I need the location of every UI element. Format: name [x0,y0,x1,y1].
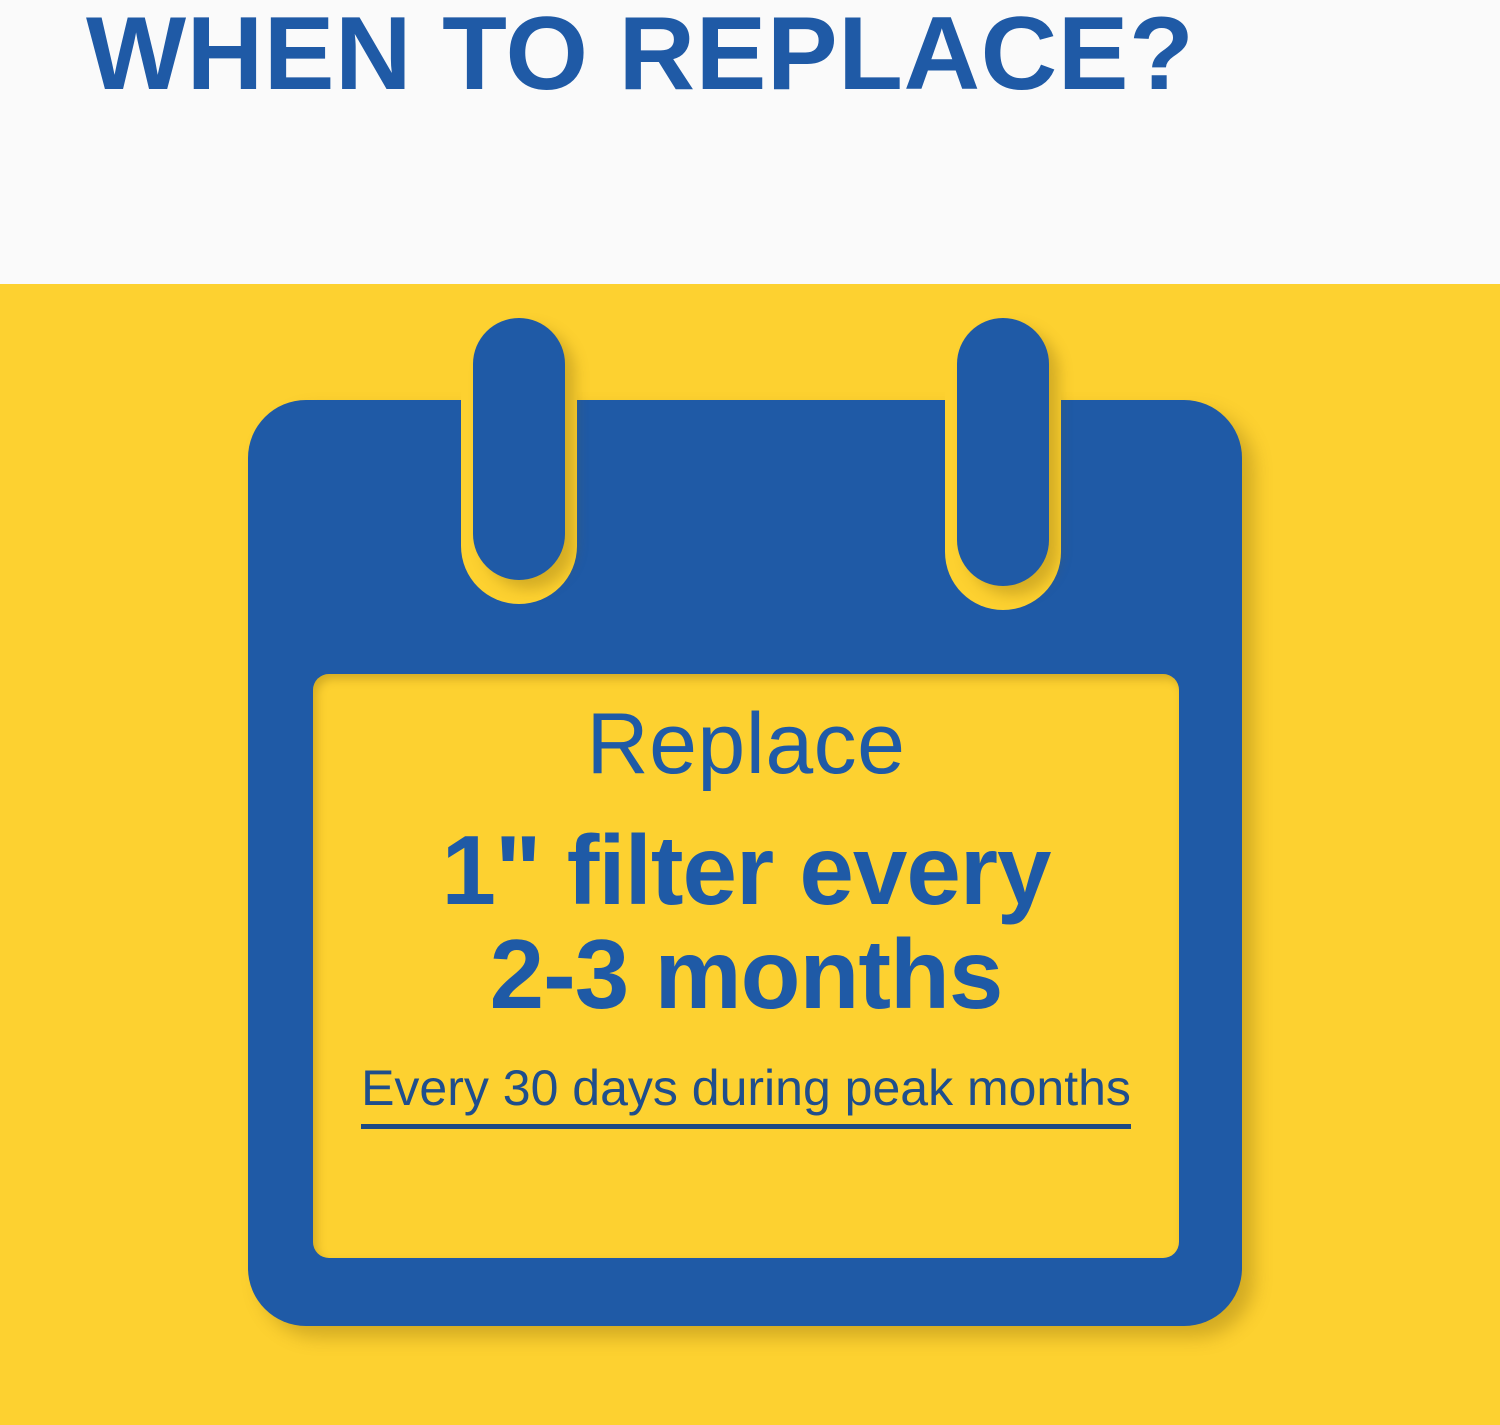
calendar-page: Replace 1" filter every 2-3 months Every… [313,674,1179,1258]
replace-label: Replace [586,696,905,792]
footnote-underline-rule [361,1124,1131,1129]
peak-months-footnote: Every 30 days during peak months [361,1060,1131,1116]
infographic-page: WHEN TO REPLACE? Replace 1" filter every… [0,0,1500,1425]
calendar-ring-left [473,318,565,580]
yellow-content-panel: Replace 1" filter every 2-3 months Every… [0,284,1500,1425]
headline-line-2: 2-3 months [442,922,1051,1026]
headline-line-1: 1" filter every [442,818,1051,922]
page-title: WHEN TO REPLACE? [86,2,1194,106]
replace-interval-headline: 1" filter every 2-3 months [442,818,1051,1026]
calendar-ring-right [957,318,1049,586]
calendar-icon: Replace 1" filter every 2-3 months Every… [248,318,1242,1326]
header-band: WHEN TO REPLACE? [0,0,1500,284]
